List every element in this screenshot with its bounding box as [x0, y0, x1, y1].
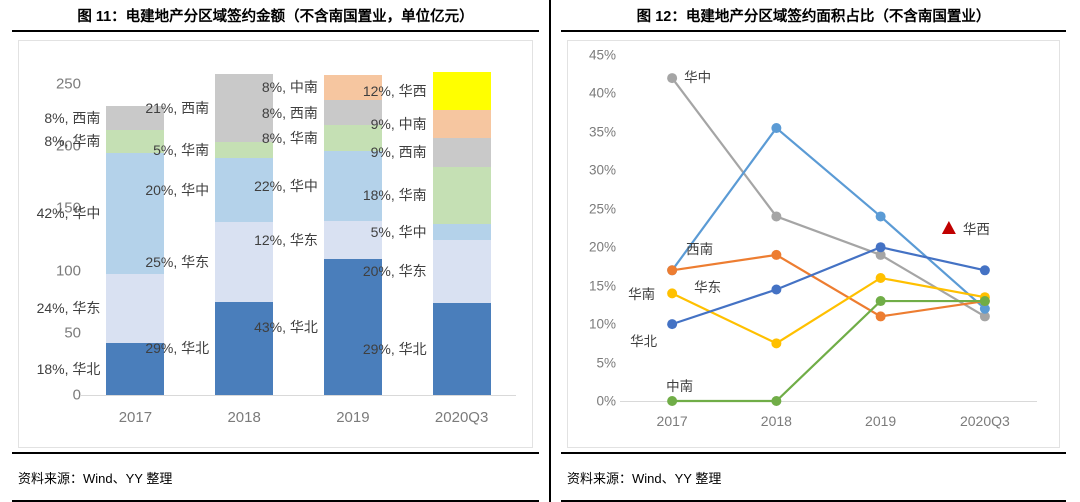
figure-11-panel: 图 11：电建地产分区域签约金额（不含南国置业，单位亿元） 0501001502…	[0, 0, 549, 502]
bar-segment-label: 18%, 华南	[363, 185, 427, 205]
bar-y-axis-tick: 250	[56, 76, 81, 93]
line-marker-华中[interactable]	[667, 73, 677, 83]
line-chart-frame: 0%5%10%15%20%25%30%35%40%45%华中西南华东华南华北中南…	[567, 40, 1060, 448]
bar-segment-label: 9%, 中南	[371, 114, 427, 134]
bar-segment-label: 8%, 西南	[262, 103, 318, 123]
bar-segment-label: 5%, 华中	[371, 222, 427, 242]
stacked-bar-chart: 05010015020025018%, 华北24%, 华东42%, 华中8%, …	[19, 41, 532, 447]
bar-segment-中南[interactable]	[433, 110, 491, 139]
bar-segment-华西[interactable]	[433, 72, 491, 110]
bar-segment-label: 29%, 华北	[363, 339, 427, 359]
line-marker-华中[interactable]	[771, 211, 781, 221]
line-marker-中南[interactable]	[771, 396, 781, 406]
bar-segment-label: 18%, 华北	[37, 359, 101, 379]
figure-11-title: 图 11：电建地产分区域签约金额（不含南国置业，单位亿元）	[77, 5, 473, 26]
bar-segment-label: 21%, 西南	[145, 98, 209, 118]
line-marker-中南[interactable]	[980, 296, 990, 306]
bar-segment-label: 43%, 华北	[254, 317, 318, 337]
bar-segment-label: 8%, 中南	[262, 77, 318, 97]
figure-11-footer-band: 资料来源：Wind、YY 整理	[12, 452, 539, 502]
line-series-label-华南: 华南	[628, 283, 655, 303]
bar-x-axis-tick: 2017	[119, 409, 152, 426]
line-marker-华南[interactable]	[876, 273, 886, 283]
line-marker-华东[interactable]	[876, 311, 886, 321]
figure-11-source: 资料来源：Wind、YY 整理	[12, 468, 172, 487]
bar-x-axis-tick: 2018	[227, 409, 260, 426]
figure-12-title: 图 12：电建地产分区域签约面积占比（不含南国置业）	[637, 5, 991, 26]
panel-container: 图 11：电建地产分区域签约金额（不含南国置业，单位亿元） 0501001502…	[0, 0, 1080, 502]
line-marker-西南[interactable]	[771, 123, 781, 133]
line-x-axis-tick: 2018	[761, 413, 792, 429]
bar-segment-label: 9%, 西南	[371, 142, 427, 162]
bar-segment-label: 12%, 华东	[254, 230, 318, 250]
figure-11-chart-area: 05010015020025018%, 华北24%, 华东42%, 华中8%, …	[12, 32, 539, 452]
triangle-icon	[942, 221, 956, 234]
bar-segment-label: 25%, 华东	[145, 252, 209, 272]
bar-segment-label: 20%, 华东	[363, 261, 427, 281]
figure-12-panel: 图 12：电建地产分区域签约面积占比（不含南国置业） 0%5%10%15%20%…	[549, 0, 1080, 502]
line-x-axis-tick: 2020Q3	[960, 413, 1010, 429]
line-series-label-西南: 西南	[686, 238, 713, 258]
bar-y-axis-tick: 100	[56, 262, 81, 279]
multi-series-line-chart: 0%5%10%15%20%25%30%35%40%45%华中西南华东华南华北中南…	[568, 41, 1059, 447]
figure-12-source: 资料来源：Wind、YY 整理	[561, 468, 721, 487]
line-marker-华北[interactable]	[876, 242, 886, 252]
line-marker-华北[interactable]	[980, 265, 990, 275]
bar-segment-label: 24%, 华东	[37, 298, 101, 318]
line-marker-华南[interactable]	[667, 288, 677, 298]
bar-segment-label: 8%, 华南	[44, 131, 100, 151]
figure-12-title-band: 图 12：电建地产分区域签约面积占比（不含南国置业）	[561, 0, 1066, 32]
line-series-label-华北: 华北	[630, 330, 657, 350]
line-series-canvas	[568, 41, 1059, 447]
bar-x-axis-tick: 2019	[336, 409, 369, 426]
bar-segment-华北[interactable]	[433, 303, 491, 395]
report-figure-page: 图 11：电建地产分区域签约金额（不含南国置业，单位亿元） 0501001502…	[0, 0, 1080, 502]
line-series-label-中南: 中南	[666, 375, 693, 395]
bar-y-axis-tick: 0	[73, 387, 81, 404]
bar-segment-label: 20%, 华中	[145, 180, 209, 200]
bar-segment-label: 8%, 西南	[44, 108, 100, 128]
figure-11-title-band: 图 11：电建地产分区域签约金额（不含南国置业，单位亿元）	[12, 0, 539, 32]
bar-segment-label: 29%, 华北	[145, 338, 209, 358]
line-marker-中南[interactable]	[876, 296, 886, 306]
line-series-label-华东: 华东	[694, 276, 721, 296]
bar-segment-label: 22%, 华中	[254, 176, 318, 196]
bar-segment-华中[interactable]	[433, 224, 491, 240]
line-annotation-label-华西: 华西	[963, 218, 990, 238]
line-marker-华北[interactable]	[667, 319, 677, 329]
line-marker-华东[interactable]	[667, 265, 677, 275]
bar-segment-label: 5%, 华南	[153, 140, 209, 160]
bar-segment-label: 8%, 华南	[262, 128, 318, 148]
bar-x-axis-tick: 2020Q3	[435, 409, 488, 426]
bar-segment-西南[interactable]	[433, 138, 491, 167]
bar-column-2020Q3[interactable]	[433, 78, 491, 395]
line-marker-西南[interactable]	[876, 211, 886, 221]
line-series-label-华中: 华中	[684, 66, 711, 86]
bar-segment-label: 12%, 华西	[363, 81, 427, 101]
figure-12-footer-band: 资料来源：Wind、YY 整理	[561, 452, 1066, 502]
line-marker-华东[interactable]	[771, 250, 781, 260]
bar-segment-华东[interactable]	[433, 240, 491, 303]
line-marker-中南[interactable]	[667, 396, 677, 406]
line-marker-华北[interactable]	[771, 285, 781, 295]
figure-12-chart-area: 0%5%10%15%20%25%30%35%40%45%华中西南华东华南华北中南…	[561, 32, 1066, 452]
bar-segment-label: 42%, 华中	[37, 203, 101, 223]
line-x-axis-tick: 2017	[657, 413, 688, 429]
line-x-axis-tick: 2019	[865, 413, 896, 429]
line-marker-华南[interactable]	[771, 338, 781, 348]
bar-y-axis-tick: 50	[64, 324, 81, 341]
bar-segment-华东[interactable]	[106, 274, 164, 343]
bar-chart-frame: 05010015020025018%, 华北24%, 华东42%, 华中8%, …	[18, 40, 533, 448]
bar-x-axis-line	[81, 395, 516, 396]
bar-segment-华南[interactable]	[433, 167, 491, 224]
